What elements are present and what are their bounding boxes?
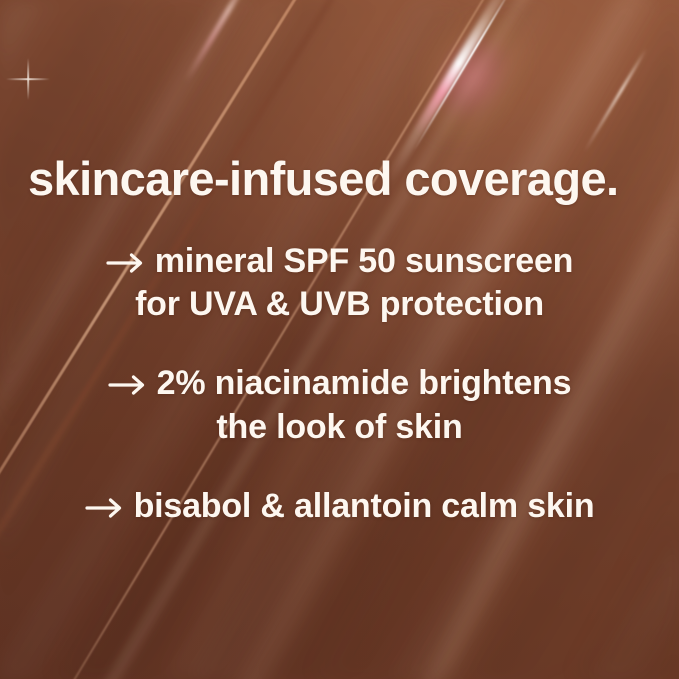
benefit-text: for UVA & UVB protection — [0, 283, 679, 326]
benefit-line: bisabol & allantoin calm skin — [0, 485, 679, 528]
benefit-line: mineral SPF 50 sunscreen — [0, 240, 679, 283]
arrow-right-icon — [85, 497, 125, 519]
page-title: skincare-infused coverage. — [28, 155, 668, 202]
benefit-line: 2% niacinamide brightens — [0, 362, 679, 405]
list-item: bisabol & allantoin calm skin — [0, 485, 679, 528]
list-item: mineral SPF 50 sunscreen for UVA & UVB p… — [0, 240, 679, 326]
marketing-graphic: skincare-infused coverage. mineral SPF 5… — [0, 0, 679, 679]
benefit-text: the look of skin — [0, 406, 679, 449]
benefit-text: 2% niacinamide brightens — [157, 364, 572, 402]
benefit-text: mineral SPF 50 sunscreen — [155, 242, 574, 280]
content-layer: skincare-infused coverage. mineral SPF 5… — [0, 0, 679, 679]
benefits-list: mineral SPF 50 sunscreen for UVA & UVB p… — [0, 240, 679, 528]
benefit-text: bisabol & allantoin calm skin — [134, 487, 595, 525]
arrow-right-icon — [108, 374, 148, 396]
arrow-right-icon — [106, 252, 146, 274]
list-item: 2% niacinamide brightens the look of ski… — [0, 362, 679, 448]
